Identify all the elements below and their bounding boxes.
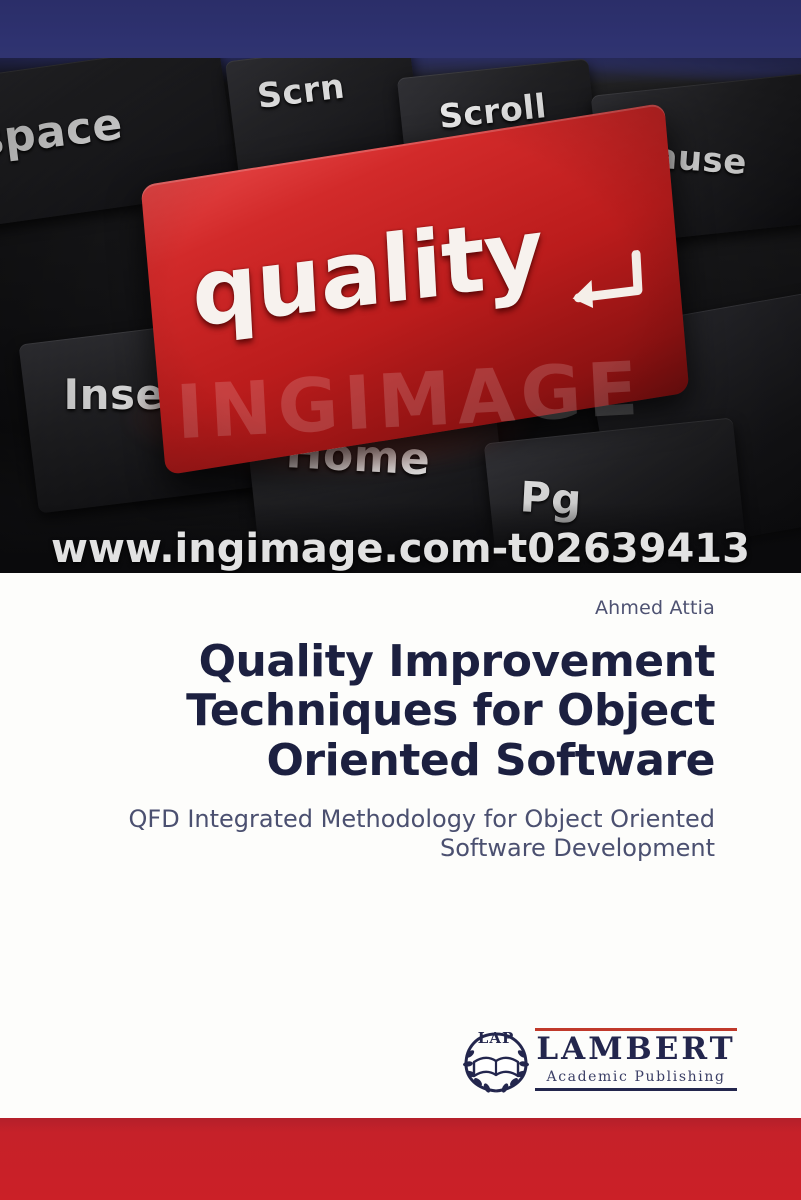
book-cover: space Scrn ScrollLock Pause Insert Home … — [0, 0, 801, 1200]
book-subtitle: QFD Integrated Methodology for Object Or… — [86, 805, 715, 864]
book-title: Quality Improvement Techniques for Objec… — [86, 637, 715, 785]
author-name: Ahmed Attia — [86, 597, 715, 619]
lap-wreath-emblem-icon: LAP — [459, 1026, 533, 1096]
bottom-color-band — [0, 1118, 801, 1200]
cover-photograph: space Scrn ScrollLock Pause Insert Home … — [0, 58, 801, 573]
photo-watermark-url: www.ingimage.com-t02639413 — [0, 526, 801, 572]
cover-text-block: Ahmed Attia Quality Improvement Techniqu… — [0, 573, 801, 863]
key-label-quality: quality — [189, 198, 545, 348]
publisher-tagline: Academic Publishing — [535, 1070, 737, 1084]
key-label-page-up: Pg — [519, 475, 583, 522]
return-arrow-icon — [557, 250, 645, 315]
publisher-logo: LAP LAMBERT Academic Publishing — [459, 1022, 737, 1100]
key-label-scrn: Scrn — [255, 69, 346, 115]
key-label-space: space — [0, 101, 125, 165]
publisher-name: LAMBERT — [535, 1034, 737, 1065]
publisher-wordmark: LAMBERT Academic Publishing — [535, 1026, 737, 1096]
logo-rule-bottom — [535, 1088, 737, 1091]
svg-text:LAP: LAP — [478, 1029, 514, 1047]
